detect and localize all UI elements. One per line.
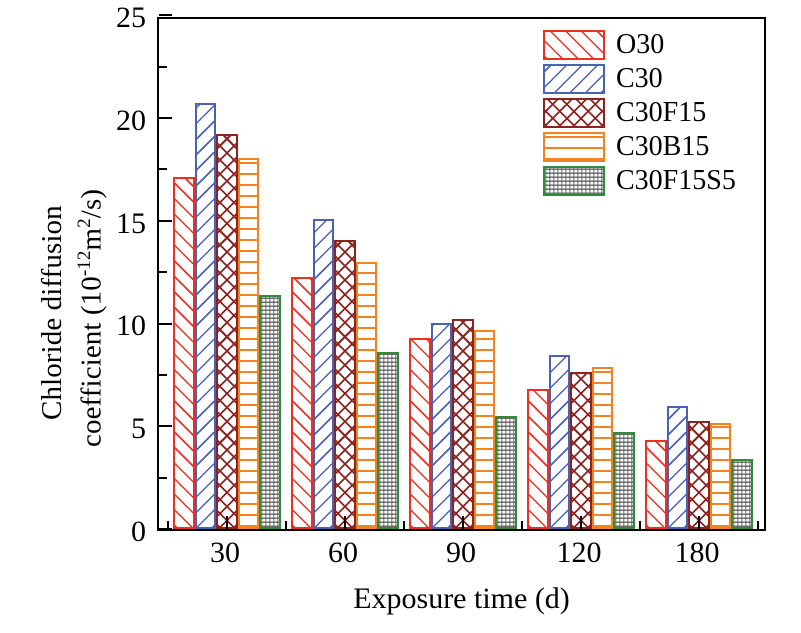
x-axis-tick-label: 120 [557, 536, 602, 570]
y-axis-major-tick [159, 14, 172, 16]
legend-item-O30: O30 [543, 28, 773, 61]
y-axis-minor-tick [159, 477, 167, 479]
legend-label-C30: C30 [616, 65, 663, 93]
x-axis-tick-labels: 306090120180 [157, 536, 766, 580]
y-axis-major-tick [159, 220, 172, 222]
y-axis-tick-label: 15 [116, 209, 146, 239]
y-axis-tick-label: 20 [116, 106, 146, 136]
legend-item-C30F15: C30F15 [543, 96, 773, 129]
bar-O30-120 [527, 389, 549, 529]
y-axis-title: Chloride diffusion coefficient (10-12m2/… [0, 0, 96, 560]
y-axis-major-tick [159, 117, 172, 119]
legend-swatch-C30F15 [543, 98, 605, 128]
bar-C30-90 [431, 323, 453, 529]
y-axis-tick-label: 0 [131, 517, 146, 547]
legend-label-C30F15: C30F15 [616, 99, 706, 127]
x-axis-major-tick [580, 516, 582, 529]
legend-item-C30: C30 [543, 62, 773, 95]
bar-C30F15-180 [688, 421, 710, 529]
x-axis-major-tick [344, 516, 346, 529]
y-axis-minor-tick [159, 374, 167, 376]
legend-label-O30: O30 [616, 31, 664, 59]
y-axis-tick-label: 25 [116, 3, 146, 33]
chart-figure: Chloride diffusion coefficient (10-12m2/… [0, 0, 801, 633]
legend-item-C30F15S5: C30F15S5 [543, 164, 773, 197]
y-axis-minor-tick [159, 66, 167, 68]
x-axis-tick-label: 180 [675, 536, 720, 570]
legend-swatch-C30 [543, 64, 605, 94]
bar-C30F15S5-90 [495, 416, 517, 529]
legend-label-C30B15: C30B15 [616, 133, 709, 161]
x-axis-major-tick [462, 516, 464, 529]
legend-swatch-O30 [543, 30, 605, 60]
bar-O30-30 [173, 177, 195, 529]
bar-C30B15-90 [474, 330, 496, 529]
bar-O30-90 [409, 338, 431, 529]
legend-item-C30B15: C30B15 [543, 130, 773, 163]
bar-C30F15-90 [452, 319, 474, 529]
y-axis-major-tick [159, 528, 172, 530]
x-axis-minor-tick [403, 521, 405, 529]
bar-O30-180 [645, 440, 667, 529]
y-axis-title-line-1: Chloride diffusion [36, 205, 69, 420]
chart-legend: O30C30C30F15C30B15C30F15S5 [543, 28, 773, 198]
legend-swatch-C30B15 [543, 132, 605, 162]
y-axis-title-exponent-2: 2 [74, 218, 95, 228]
x-axis-major-tick [698, 516, 700, 529]
y-axis-title-exponent-minus-12: -12 [74, 251, 95, 277]
bar-C30-180 [667, 406, 689, 529]
x-axis-tick-label: 90 [446, 536, 476, 570]
bar-C30F15S5-180 [731, 459, 753, 529]
bar-C30-60 [313, 219, 335, 529]
x-axis-major-tick [226, 516, 228, 529]
y-axis-tick-labels: 0510152025 [96, 17, 146, 531]
bar-O30-60 [291, 277, 313, 529]
bar-C30B15-180 [710, 423, 732, 529]
bar-C30B15-120 [592, 367, 614, 529]
bar-C30F15-120 [570, 372, 592, 529]
bar-C30-120 [549, 355, 571, 529]
bar-C30F15-30 [216, 134, 238, 529]
y-axis-minor-tick [159, 271, 167, 273]
y-axis-tick-label: 10 [116, 311, 146, 341]
x-axis-tick-label: 30 [210, 536, 240, 570]
bar-C30F15-60 [334, 240, 356, 529]
bar-C30F15S5-30 [259, 295, 281, 529]
y-axis-major-tick [159, 323, 172, 325]
x-axis-title: Exposure time (d) [157, 582, 766, 616]
x-axis-minor-tick [639, 521, 641, 529]
x-axis-tick-label: 60 [328, 536, 358, 570]
x-axis-minor-tick [521, 521, 523, 529]
y-axis-major-tick [159, 425, 172, 427]
x-axis-minor-tick [757, 521, 759, 529]
bar-C30B15-60 [356, 262, 378, 529]
legend-swatch-C30F15S5 [543, 166, 605, 196]
y-axis-minor-tick [159, 168, 167, 170]
bar-C30F15S5-120 [613, 432, 635, 529]
bar-C30B15-30 [238, 158, 260, 529]
x-axis-minor-tick [285, 521, 287, 529]
x-axis-minor-tick [167, 521, 169, 529]
y-axis-tick-label: 5 [131, 414, 146, 444]
legend-label-C30F15S5: C30F15S5 [616, 167, 736, 195]
bar-C30F15S5-60 [377, 352, 399, 529]
bar-C30-30 [195, 103, 217, 529]
